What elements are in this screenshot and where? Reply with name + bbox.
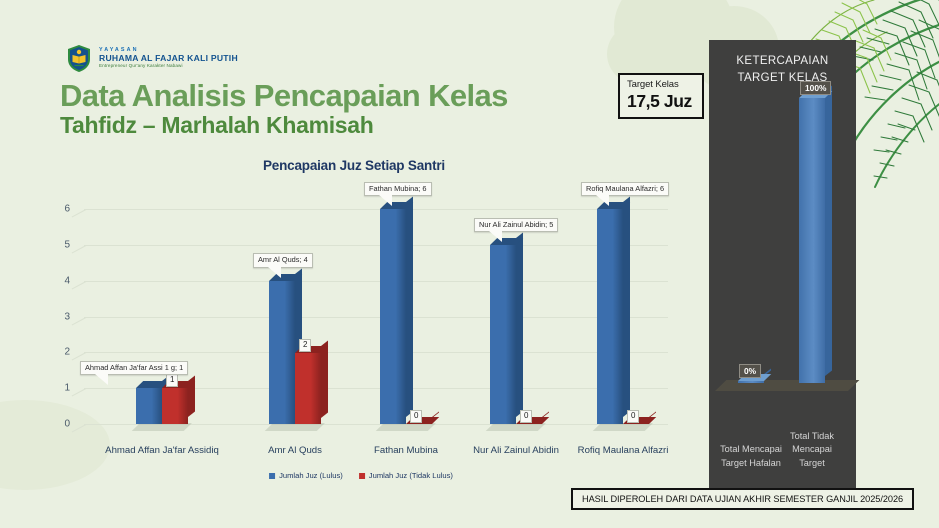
bar-callout-label: Rofiq Maulana Alfazri; 6 (581, 182, 669, 197)
legend-swatch-icon (269, 473, 275, 479)
x-axis-label: Nur Ali Zainul Abidin (473, 445, 559, 456)
bar-side-face (516, 233, 523, 417)
ketercapaian-panel-title: KETERCAPAIAN TARGET KELAS (709, 53, 856, 86)
brand-logo-row: YAYASAN RUHAMA AL FAJAR KALI PUTIH Entre… (66, 44, 238, 73)
x-axis-label: Fathan Mubina (374, 445, 438, 456)
slide-canvas: YAYASAN RUHAMA AL FAJAR KALI PUTIH Entre… (0, 0, 939, 528)
bar-front-face (597, 209, 623, 424)
y-axis-tick: 4 (64, 275, 70, 286)
bar-front-face (380, 209, 406, 424)
bar-front-face (136, 388, 162, 424)
y-axis-tick: 3 (64, 311, 70, 322)
bar-front-face (269, 281, 295, 424)
legend-label: Jumlah Juz (Tidak Lulus) (369, 471, 453, 480)
panel-bar-value-label: 0% (739, 364, 761, 378)
gridline: 4 (84, 281, 668, 282)
bar-lulus[interactable] (269, 281, 295, 424)
panel-x-label: Total Mencapai Target Hafalan (719, 443, 783, 471)
bar-group (490, 245, 542, 424)
bar-front-face (738, 381, 764, 383)
callout-tail (379, 195, 392, 206)
bar-shadow (402, 423, 436, 431)
ketercapaian-title-line2: TARGET KELAS (709, 70, 856, 87)
bar-value-label: 0 (410, 410, 422, 423)
panel-bar[interactable] (738, 381, 764, 383)
bar-group (269, 281, 321, 424)
ketercapaian-title-line1: KETERCAPAIAN (709, 53, 856, 70)
bar-shadow (158, 423, 192, 431)
bar-lulus[interactable] (136, 388, 162, 424)
legend-label: Jumlah Juz (Lulus) (279, 471, 343, 480)
bar-callout-label: Ahmad Affan Ja'far Assi 1 g; 1 (80, 361, 188, 376)
page-subtitle: Tahfidz – Marhalah Khamisah (60, 112, 374, 139)
bar-lulus[interactable] (380, 209, 406, 424)
footer-banner: HASIL DIPEROLEH DARI DATA UJIAN AKHIR SE… (571, 488, 914, 510)
bar-group (136, 388, 188, 424)
gridline: 6 (84, 209, 668, 210)
bar-value-label: 0 (520, 410, 532, 423)
y-axis-tick: 1 (64, 383, 70, 394)
bar-front-face (162, 388, 188, 424)
bar-group (380, 209, 432, 424)
bar-tidak-lulus[interactable] (623, 424, 649, 425)
bar-side-face (825, 86, 832, 376)
target-kelas-label: Target Kelas (627, 79, 696, 90)
chart-title: Pencapaian Juz Setiap Santri (263, 158, 445, 173)
bar-callout-label: Fathan Mubina; 6 (364, 182, 432, 197)
y-axis-tick: 2 (64, 347, 70, 358)
page-title: Data Analisis Pencapaian Kelas (60, 78, 508, 114)
callout-tail (95, 374, 108, 385)
legend-item-lulus: Jumlah Juz (Lulus) (269, 471, 343, 480)
bar-lulus[interactable] (597, 209, 623, 424)
bar-group (597, 209, 649, 424)
target-kelas-value: 17,5 Juz (627, 91, 696, 112)
bar-value-label: 1 (166, 374, 178, 387)
panel-x-label: Total Tidak Mencapai Target (780, 430, 844, 471)
bar-shadow (291, 423, 325, 431)
legend-swatch-icon (359, 473, 365, 479)
panel-bar-value-label: 100% (800, 81, 831, 95)
gridline: 5 (84, 245, 668, 246)
bar-front-face (490, 245, 516, 424)
bar-front-face (799, 98, 825, 383)
panel-bar[interactable] (799, 98, 825, 383)
ketercapaian-panel: KETERCAPAIAN TARGET KELAS 0%100% Total M… (709, 40, 856, 495)
shield-book-logo-icon (66, 44, 92, 73)
callout-tail (596, 195, 609, 206)
bar-shadow (512, 423, 546, 431)
bar-value-label: 2 (299, 339, 311, 352)
chart-plot-area: 01234561Ahmad Affan Ja'far Assi 1 g; 12A… (84, 188, 668, 424)
bar-lulus[interactable] (490, 245, 516, 424)
y-axis-tick: 6 (64, 204, 70, 215)
x-axis-label: Amr Al Quds (268, 445, 322, 456)
bar-callout-label: Amr Al Quds; 4 (253, 253, 313, 268)
bar-tidak-lulus[interactable] (516, 424, 542, 425)
bar-value-label: 0 (627, 410, 639, 423)
gridline: 2 (84, 352, 668, 353)
panel-chart-plot: 0%100% (715, 98, 850, 383)
legend-item-tidak-lulus: Jumlah Juz (Tidak Lulus) (359, 471, 453, 480)
bar-callout-label: Nur Ali Zainul Abidin; 5 (474, 218, 558, 233)
bar-shadow (619, 423, 653, 431)
x-axis-label: Ahmad Affan Ja'far Assidiq (105, 445, 219, 456)
callout-tail (268, 267, 281, 278)
bar-tidak-lulus[interactable] (162, 388, 188, 424)
brand-line-2: RUHAMA AL FAJAR KALI PUTIH (99, 54, 238, 63)
y-axis-tick: 5 (64, 240, 70, 251)
target-kelas-box: Target Kelas 17,5 Juz (618, 73, 704, 119)
gridline: 3 (84, 317, 668, 318)
brand-line-3: Entrepreneur Qur'any Karakter Nabawi (99, 64, 238, 69)
santri-bar-chart: 01234561Ahmad Affan Ja'far Assi 1 g; 12A… (46, 182, 676, 482)
bar-side-face (623, 197, 630, 417)
bar-tidak-lulus[interactable] (295, 353, 321, 425)
chart-legend: Jumlah Juz (Lulus) Jumlah Juz (Tidak Lul… (269, 471, 453, 480)
x-axis-label: Rofiq Maulana Alfazri (578, 445, 669, 456)
y-axis-tick: 0 (64, 419, 70, 430)
callout-tail (489, 231, 502, 242)
bar-side-face (406, 197, 413, 417)
bar-tidak-lulus[interactable] (406, 424, 432, 425)
bar-front-face (295, 353, 321, 425)
